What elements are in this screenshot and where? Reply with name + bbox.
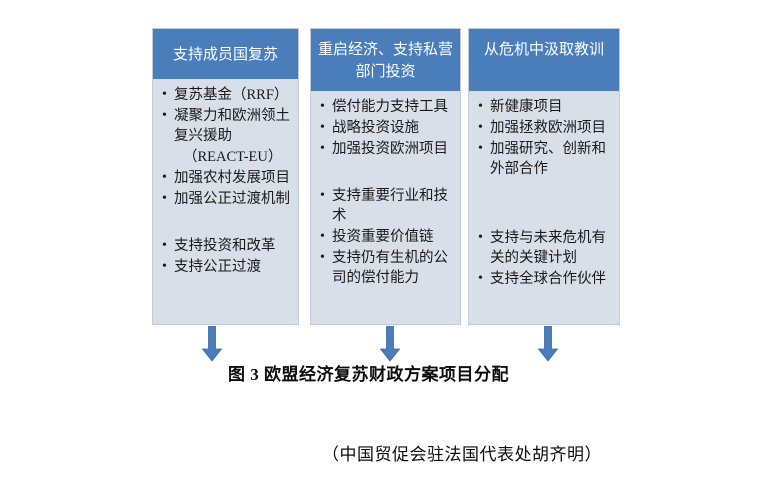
diagram-card-lessons-from-crisis: 从危机中汲取教训 新健康项目 加强拯救欧洲项目 加强研究、创新和外部合作 支持与…	[468, 28, 620, 325]
diagram-card-support-member-state-recovery: 支持成员国复苏 复苏基金（RRF） 凝聚力和欧洲领土复兴援助 （REACT-EU…	[152, 28, 299, 325]
card-header-title: 支持成员国复苏	[153, 29, 298, 79]
figure-caption: 图 3 欧盟经济复苏财政方案项目分配	[228, 360, 509, 385]
figure-diagram: 支持成员国复苏 复苏基金（RRF） 凝聚力和欧洲领土复兴援助 （REACT-EU…	[0, 0, 776, 340]
list-item: 加强农村发展项目	[161, 168, 290, 188]
byline-text: （中国贸促会驻法国代表处胡齐明）	[322, 440, 602, 465]
group-spacer	[477, 180, 611, 228]
list-item: 支持仍有生机的公司的偿付能力	[319, 248, 452, 288]
list-item: 加强拯救欧洲项目	[477, 118, 611, 138]
bullet-list-group-1: 新健康项目 加强拯救欧洲项目 加强研究、创新和外部合作	[477, 97, 611, 179]
diagram-card-restart-economy-support-private-investment: 重启经济、支持私营部门投资 偿付能力支持工具 战略投资设施 加强投资欧洲项目 支…	[310, 28, 461, 325]
list-item: 偿付能力支持工具	[319, 97, 452, 117]
bullet-list-group-1: 复苏基金（RRF） 凝聚力和欧洲领土复兴援助 （REACT-EU） 加强农村发展…	[161, 85, 290, 209]
bullet-list-group-1: 偿付能力支持工具 战略投资设施 加强投资欧洲项目	[319, 97, 452, 159]
list-item: 新健康项目	[477, 97, 611, 117]
group-spacer	[161, 210, 290, 236]
list-item: 加强公正过渡机制	[161, 189, 290, 209]
list-item: 加强研究、创新和外部合作	[477, 139, 611, 179]
down-arrow-icon	[199, 326, 225, 362]
list-item: 支持与未来危机有关的关键计划	[477, 228, 611, 268]
list-item: 支持全球合作伙伴	[477, 269, 611, 289]
card-body: 新健康项目 加强拯救欧洲项目 加强研究、创新和外部合作 支持与未来危机有关的关键…	[469, 91, 619, 289]
down-arrow-icon	[377, 326, 403, 362]
list-item: 支持投资和改革	[161, 236, 290, 256]
card-header-title: 重启经济、支持私营部门投资	[311, 29, 460, 91]
list-item: 凝聚力和欧洲领土复兴援助	[161, 106, 290, 146]
card-body: 复苏基金（RRF） 凝聚力和欧洲领土复兴援助 （REACT-EU） 加强农村发展…	[153, 79, 298, 277]
list-item: 支持公正过渡	[161, 257, 290, 277]
list-item: 战略投资设施	[319, 118, 452, 138]
bullet-list-group-2: 支持重要行业和技术 投资重要价值链 支持仍有生机的公司的偿付能力	[319, 186, 452, 288]
card-header-title: 从危机中汲取教训	[469, 29, 619, 91]
list-item: 支持重要行业和技术	[319, 186, 452, 226]
list-item: 投资重要价值链	[319, 227, 452, 247]
list-item: 复苏基金（RRF）	[161, 85, 290, 105]
down-arrow-icon	[535, 326, 561, 362]
group-spacer	[319, 160, 452, 186]
card-body: 偿付能力支持工具 战略投资设施 加强投资欧洲项目 支持重要行业和技术 投资重要价…	[311, 91, 460, 288]
bullet-list-group-2: 支持与未来危机有关的关键计划 支持全球合作伙伴	[477, 228, 611, 289]
list-item-continuation: （REACT-EU）	[161, 147, 290, 167]
list-item: 加强投资欧洲项目	[319, 139, 452, 159]
bullet-list-group-2: 支持投资和改革 支持公正过渡	[161, 236, 290, 277]
